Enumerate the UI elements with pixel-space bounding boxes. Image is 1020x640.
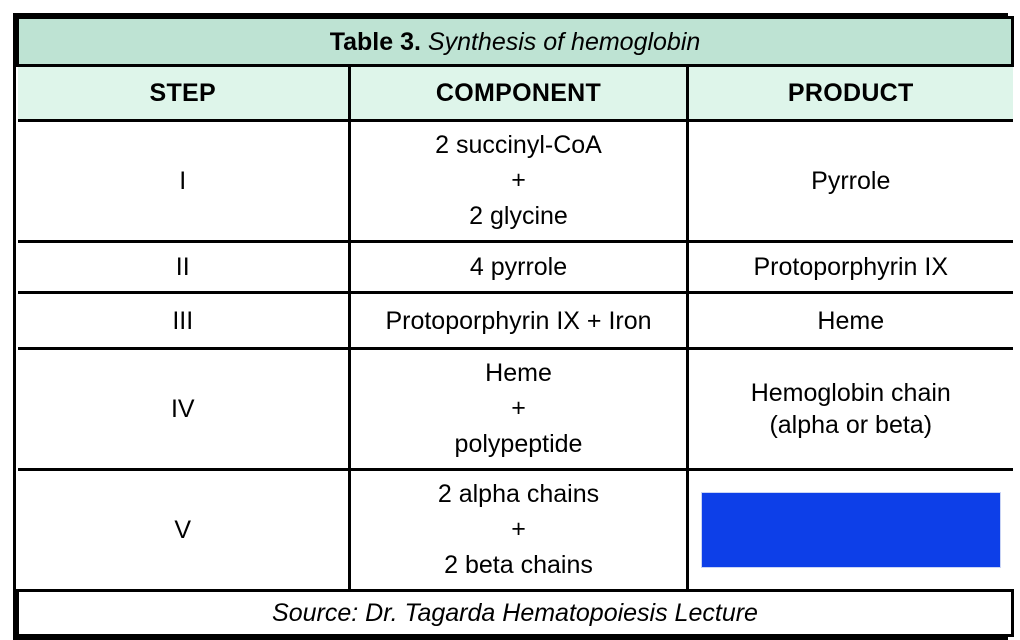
cell-step: IV bbox=[18, 349, 350, 470]
cell-step: II bbox=[18, 242, 350, 293]
column-header-step: STEP bbox=[18, 66, 350, 121]
table-header-row: STEP COMPONENT PRODUCT bbox=[18, 66, 1013, 121]
table-row: IV Heme + polypeptide Hemoglobin chain (… bbox=[18, 349, 1013, 470]
component-line: + bbox=[351, 163, 686, 199]
table-caption-row: Table 3. Synthesis of hemoglobin bbox=[18, 18, 1013, 66]
column-header-product: PRODUCT bbox=[688, 66, 1013, 121]
cell-product: Pyrrole bbox=[688, 121, 1013, 242]
page-root: Table 3. Synthesis of hemoglobin STEP CO… bbox=[0, 0, 1020, 624]
table-row: I 2 succinyl-CoA + 2 glycine Pyrrole bbox=[18, 121, 1013, 242]
component-line: 2 succinyl-CoA bbox=[351, 128, 686, 164]
cell-component: Heme + polypeptide bbox=[350, 349, 688, 470]
cell-component: Protoporphyrin IX + Iron bbox=[350, 293, 688, 349]
cell-product: Heme bbox=[688, 293, 1013, 349]
redaction-block bbox=[701, 492, 1001, 568]
cell-step: I bbox=[18, 121, 350, 242]
table-source-text: Source: Dr. Tagarda Hematopoiesis Lectur… bbox=[18, 591, 1013, 636]
table-caption-title: Synthesis of hemoglobin bbox=[428, 28, 700, 56]
product-line: (alpha or beta) bbox=[689, 409, 1013, 442]
cell-component: 2 succinyl-CoA + 2 glycine bbox=[350, 121, 688, 242]
table-row: V 2 alpha chains + 2 beta chains bbox=[18, 470, 1013, 591]
cell-product: Protoporphyrin IX bbox=[688, 242, 1013, 293]
component-line: 2 alpha chains bbox=[351, 477, 686, 513]
component-line: 2 glycine bbox=[351, 199, 686, 235]
component-line: 2 beta chains bbox=[351, 548, 686, 584]
component-line: Heme bbox=[351, 356, 686, 392]
table-row: II 4 pyrrole Protoporphyrin IX bbox=[18, 242, 1013, 293]
cell-component: 4 pyrrole bbox=[350, 242, 688, 293]
cell-step: III bbox=[18, 293, 350, 349]
synthesis-table-container: Table 3. Synthesis of hemoglobin STEP CO… bbox=[13, 13, 1008, 640]
component-line: + bbox=[351, 512, 686, 548]
component-line: + bbox=[351, 391, 686, 427]
product-line: Pyrrole bbox=[689, 165, 1013, 198]
component-line: polypeptide bbox=[351, 427, 686, 463]
cell-component: 2 alpha chains + 2 beta chains bbox=[350, 470, 688, 591]
synthesis-table: Table 3. Synthesis of hemoglobin STEP CO… bbox=[16, 16, 1014, 637]
table-row: III Protoporphyrin IX + Iron Heme bbox=[18, 293, 1013, 349]
table-caption-cell: Table 3. Synthesis of hemoglobin bbox=[18, 18, 1013, 66]
cell-product: Hemoglobin chain (alpha or beta) bbox=[688, 349, 1013, 470]
table-source-row: Source: Dr. Tagarda Hematopoiesis Lectur… bbox=[18, 591, 1013, 636]
product-line: Hemoglobin chain bbox=[689, 377, 1013, 410]
cell-step: V bbox=[18, 470, 350, 591]
table-caption-label: Table 3. bbox=[330, 28, 421, 56]
column-header-component: COMPONENT bbox=[350, 66, 688, 121]
cell-product-redacted bbox=[688, 470, 1013, 591]
